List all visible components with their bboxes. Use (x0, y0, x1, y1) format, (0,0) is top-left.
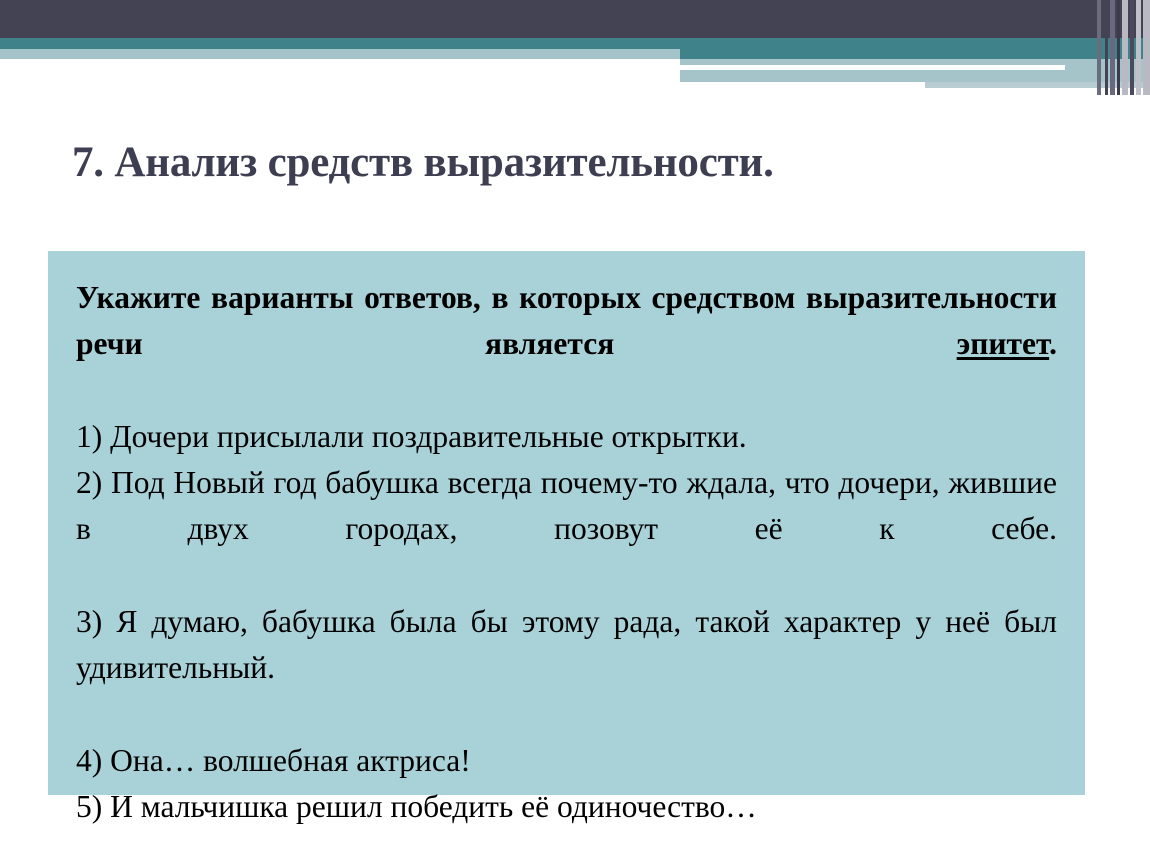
answer-option[interactable]: 4) Она… волшебная актриса! (76, 738, 1057, 784)
header-band-teal (0, 38, 1150, 49)
instruction-prefix: Укажите варианты ответов, в которых сред… (76, 280, 1057, 361)
header-band-dark (0, 0, 1150, 38)
header-vertical-stripe (1097, 0, 1101, 95)
header-vertical-stripe (1143, 0, 1150, 95)
header-band-light-lower (680, 70, 1150, 82)
header-vertical-stripe (1130, 0, 1134, 95)
answer-options-list: 1) Дочери присылали поздравительные откр… (76, 414, 1057, 831)
question-content-box: Укажите варианты ответов, в которых сред… (48, 251, 1085, 795)
instruction-term: эпитет (957, 326, 1049, 361)
header-vertical-stripe (1122, 0, 1128, 95)
page-title: 7. Анализ средств выразительности. (72, 139, 1082, 187)
answer-option[interactable]: 1) Дочери присылали поздравительные откр… (76, 414, 1057, 460)
header-band-teal-right (680, 49, 1150, 59)
answer-option[interactable]: 2) Под Новый год бабушка всегда почему-т… (76, 460, 1057, 599)
question-instruction: Укажите варианты ответов, в которых сред… (76, 275, 1057, 414)
header-band-light-left (0, 49, 680, 59)
instruction-suffix: . (1049, 326, 1057, 361)
header-vertical-stripe (1105, 0, 1108, 95)
header-vertical-stripe (1110, 0, 1115, 95)
header-vertical-stripe (1117, 0, 1120, 95)
answer-option[interactable]: 3) Я думаю, бабушка была бы этому рада, … (76, 599, 1057, 738)
slide-header-decoration (0, 0, 1150, 95)
header-vertical-stripe (1136, 0, 1141, 95)
answer-option[interactable]: 5) И мальчишка решил победить её одиноче… (76, 784, 1057, 830)
